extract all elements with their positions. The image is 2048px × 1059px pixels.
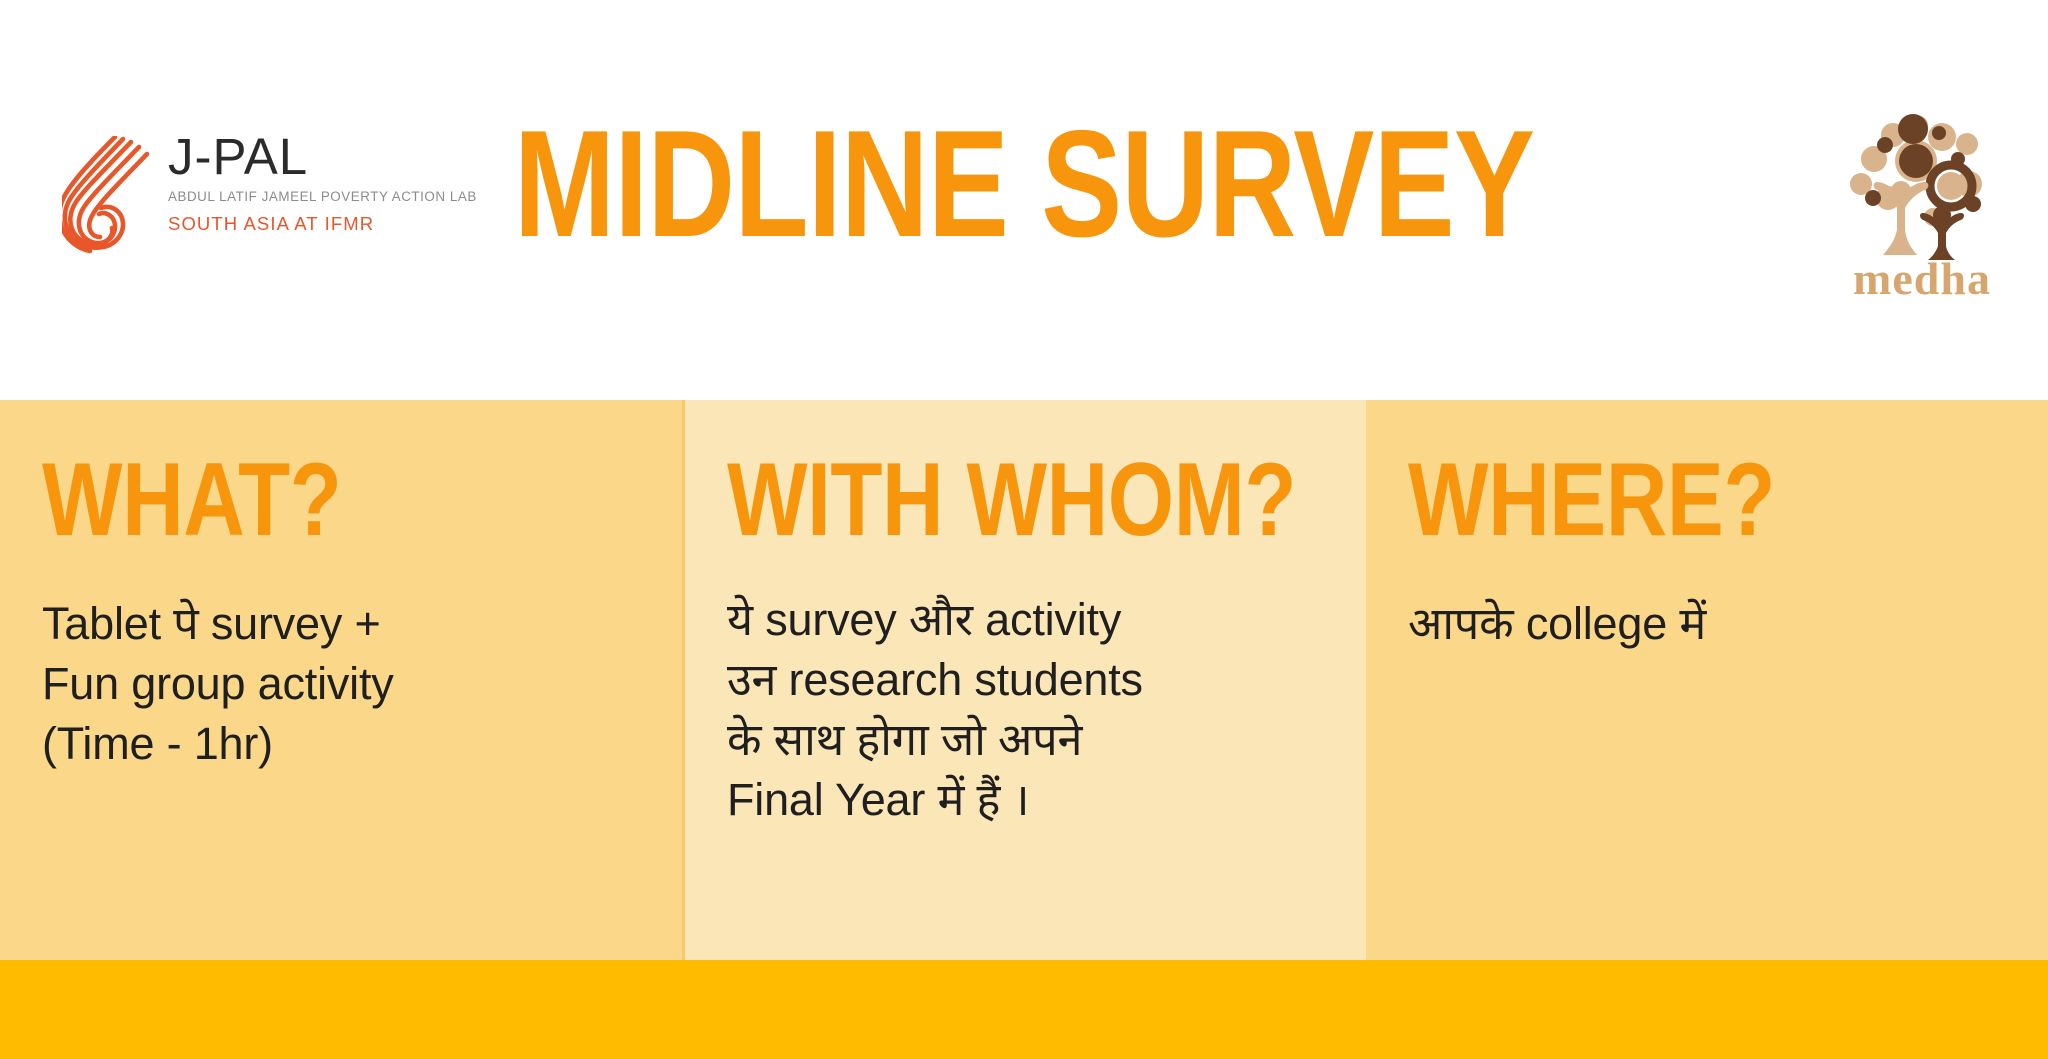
column-with-whom: WITH WHOM? ये survey और activity उन rese… xyxy=(682,400,1366,960)
column-where: WHERE? आपके college में xyxy=(1366,400,2048,960)
column-where-heading: WHERE? xyxy=(1408,448,1933,552)
column-with-whom-body: ये survey और activity उन research studen… xyxy=(727,590,1366,829)
column-what-body: Tablet पे survey + Fun group activity (T… xyxy=(42,594,682,774)
column-what-heading: WHAT? xyxy=(42,448,567,552)
medha-logo: medha xyxy=(1822,112,2022,312)
medha-wordmark: medha xyxy=(1822,256,2022,302)
medha-tree-icon xyxy=(1847,112,1997,260)
info-columns: WHAT? Tablet पे survey + Fun group activ… xyxy=(0,400,2048,960)
jpal-spiral-droplet-icon xyxy=(62,136,154,254)
column-with-whom-heading: WITH WHOM? xyxy=(727,448,1251,552)
column-what: WHAT? Tablet पे survey + Fun group activ… xyxy=(0,400,682,960)
page-title: MIDLINE SURVEY xyxy=(205,108,1843,260)
column-where-body: आपके college में xyxy=(1408,594,2048,654)
footer-accent-bar xyxy=(0,960,2048,1059)
poster-header: J-PAL ABDUL LATIF JAMEEL POVERTY ACTION … xyxy=(0,0,2048,400)
